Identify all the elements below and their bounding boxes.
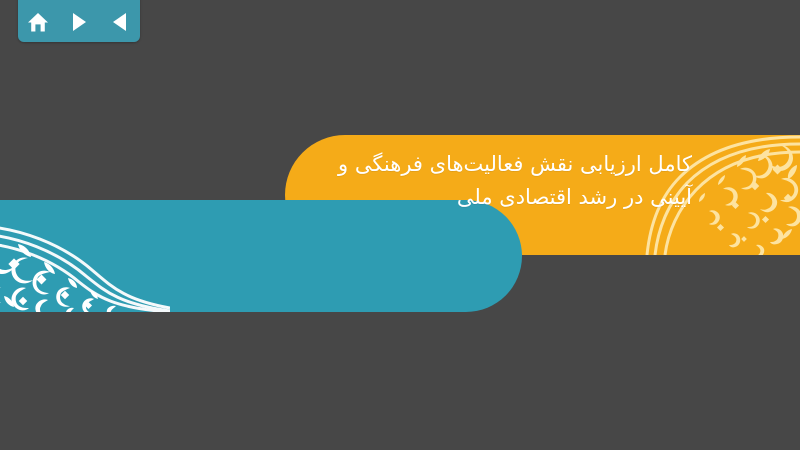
slide-title: کامل ارزیابی نقش فعالیت‌های فرهنگی و آیی…	[132, 148, 692, 214]
triangle-right-icon	[70, 12, 88, 32]
navigation-bar	[18, 0, 140, 42]
arabesque-ornament	[0, 200, 170, 312]
previous-button[interactable]	[105, 9, 135, 35]
slide-canvas: کامل ارزیابی نقش فعالیت‌های فرهنگی و آیی…	[0, 0, 800, 450]
home-icon	[27, 12, 49, 33]
home-button[interactable]	[23, 9, 53, 35]
title-line-2: آیینی در رشد اقتصادی ملی	[132, 181, 692, 214]
triangle-left-icon	[111, 12, 129, 32]
next-button[interactable]	[64, 9, 94, 35]
title-line-1: کامل ارزیابی نقش فعالیت‌های فرهنگی و	[132, 148, 692, 181]
teal-accent-band	[0, 200, 522, 312]
